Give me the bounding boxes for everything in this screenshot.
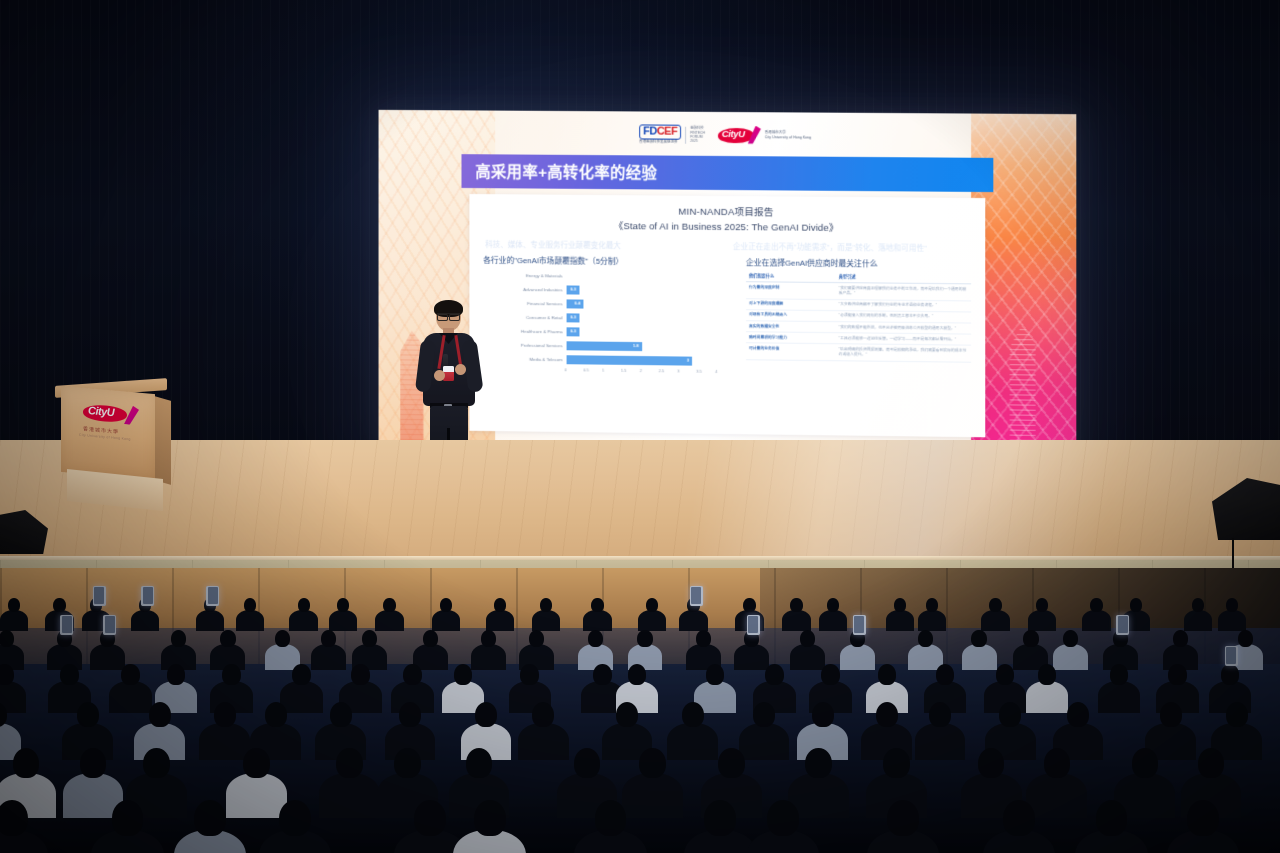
- audience-head: [337, 598, 349, 612]
- audience-head: [588, 630, 603, 647]
- audience-head: [639, 748, 665, 778]
- genai-disruption-bar-chart: Energy & MaterialsAdvanced Industries0.3…: [483, 269, 734, 383]
- audience-head: [1132, 748, 1158, 778]
- audience-head: [0, 800, 28, 836]
- slide-title: 高采用率+高转化率的经验: [475, 160, 657, 183]
- table-cell-key: 真实的数据安全性: [746, 321, 836, 333]
- ghost-heading-right: 企业正在走出不再"功能需求"，而是"转化、落地和可用性": [733, 242, 969, 253]
- chart-x-axis: 00.511.522.533.54: [567, 367, 734, 374]
- table-column: 企业在选择GenAI供应商时最关注什么 他们想要什么典型引述 行为量的深度定制"…: [746, 257, 971, 386]
- chart-bar-value: 1.8: [633, 343, 639, 348]
- audience-head: [1063, 630, 1078, 647]
- audience-head: [637, 630, 652, 647]
- audience-area: [0, 568, 1280, 853]
- chart-bar-track: 0.3: [567, 285, 734, 296]
- chart-bar-track: 0.4: [567, 299, 734, 310]
- audience-head: [1173, 630, 1188, 647]
- audience-head: [8, 598, 20, 612]
- chart-bar-track: 0.3: [567, 313, 734, 324]
- faded-headings-row: 科技、媒体、专业服务行业颠覆变化最大 企业正在走出不再"功能需求"，而是"转化、…: [485, 240, 969, 253]
- audience-head: [743, 598, 755, 612]
- chart-bar-row: Media & Telecom3: [483, 352, 734, 367]
- audience-head: [989, 598, 1001, 612]
- audience-head: [265, 702, 287, 727]
- chart-bar: 0.3: [567, 313, 580, 323]
- audience-head: [1226, 702, 1248, 727]
- audience-head: [466, 748, 492, 778]
- audience-shoulders: [375, 610, 404, 631]
- speaker-right-hand: [455, 364, 466, 375]
- audience-head: [403, 664, 421, 685]
- audience-head: [753, 702, 775, 727]
- chart-bar-track: 0.3: [567, 327, 734, 338]
- audience-shoulders: [1026, 773, 1087, 818]
- audience-shoulders: [329, 610, 358, 631]
- audience-shoulders: [486, 610, 515, 631]
- audience-head: [887, 800, 919, 836]
- audience-head: [0, 630, 14, 647]
- audience-head: [383, 598, 395, 612]
- report-line-2: 《State of AI in Business 2025: The GenAI…: [469, 217, 985, 235]
- audience-head: [704, 800, 736, 836]
- table-cell-key: 对现有工具的无缝嵌入: [746, 309, 836, 321]
- audience-head: [821, 664, 839, 685]
- audience-head: [1168, 664, 1186, 685]
- audience-head: [1130, 598, 1142, 612]
- audience-shoulders: [840, 644, 875, 670]
- audience-head: [53, 598, 65, 612]
- fdcef-caption: 香港金融科技发展促进会: [639, 140, 681, 145]
- chart-bar-value: 0.4: [574, 300, 580, 305]
- audience-shoulders: [679, 610, 708, 631]
- audience-head: [220, 630, 235, 647]
- audience-head: [1038, 664, 1056, 685]
- audience-head: [520, 664, 538, 685]
- audience-shoulders: [226, 773, 287, 818]
- audience-shoulders: [1082, 610, 1111, 631]
- audience-head: [475, 702, 497, 727]
- audience-head: [978, 748, 1004, 778]
- table-cell-quote: "给出明确的投资回报测算，而不是模糊的承诺，我们需要看到实际的成本节约或收入提升…: [836, 344, 971, 362]
- audience-head: [878, 664, 896, 685]
- audience-shoulders: [667, 723, 718, 760]
- audience-phone-screen: [690, 586, 703, 606]
- audience-shoulders: [1218, 610, 1247, 631]
- audience-head: [13, 748, 39, 778]
- chart-bar-track: [567, 271, 734, 282]
- audience-head: [616, 702, 638, 727]
- chart-category-label: Healthcare & Pharma: [483, 328, 566, 334]
- audience-head: [805, 748, 831, 778]
- stage-floor: [0, 440, 1280, 568]
- audience-shoulders: [918, 610, 947, 631]
- audience-shoulders: [196, 610, 225, 631]
- cityu-wordmark: CityU: [722, 129, 745, 140]
- chart-bar: 0.3: [567, 285, 580, 295]
- slide-logo-row: FDCEF 香港金融科技发展促进会 金融科技FINTECHFORUM2025 C…: [379, 118, 1077, 153]
- table-column-header: 他们想要什么: [746, 271, 836, 283]
- audience-head: [292, 664, 310, 685]
- audience-head: [696, 630, 711, 647]
- fdcef-mark-icon: FDCEF: [639, 125, 681, 140]
- audience-head: [646, 598, 658, 612]
- chart-column: 各行业的"GenAI市场颠覆指数"（5分制） Energy & Material…: [483, 255, 734, 383]
- chart-x-tick: 0.5: [583, 367, 602, 372]
- audience-head: [926, 598, 938, 612]
- cityu-logo: CityU 香港城市大學City University of Hong Kong: [718, 125, 811, 145]
- ghost-heading-left: 科技、媒体、专业服务行业颠覆变化最大: [485, 240, 719, 251]
- audience-shoulders: [790, 644, 825, 670]
- audience-head: [275, 630, 290, 647]
- audience-head: [330, 702, 352, 727]
- audience-head: [60, 664, 78, 685]
- audience-phone-screen: [853, 615, 866, 635]
- audience-head: [574, 748, 600, 778]
- audience-shoulders: [319, 773, 380, 818]
- audience-head: [827, 598, 839, 612]
- audience-shoulders: [131, 610, 160, 631]
- projection-screen: FDCEF 香港金融科技发展促进会 金融科技FINTECHFORUM2025 C…: [379, 110, 1077, 459]
- audience-head: [595, 800, 627, 836]
- audience-shoulders: [1184, 610, 1213, 631]
- chart-bar-row: Healthcare & Pharma0.3: [483, 324, 734, 339]
- audience-head: [77, 702, 99, 727]
- audience-head: [1238, 630, 1253, 647]
- audience-head: [121, 664, 139, 685]
- lectern-podium: CityU 香港城市大學 City University of Hong Kon…: [55, 382, 173, 510]
- audience-head: [351, 664, 369, 685]
- audience-shoulders: [432, 610, 461, 631]
- table-cell-quote: "我们需要供应商真正理解我们业务中的工作流，而不是给我们一个通用的模板产品。": [836, 283, 971, 301]
- chart-x-tick: 4: [715, 369, 734, 374]
- table-cell-key: 随时间累积的学习能力: [746, 332, 836, 344]
- audience-head: [149, 702, 171, 727]
- audience-shoulders: [819, 610, 848, 631]
- audience-phone-screen: [141, 586, 154, 606]
- auditorium-presentation-photo: FDCEF 香港金融科技发展促进会 金融科技FINTECHFORUM2025 C…: [0, 0, 1280, 853]
- table-heading: 企业在选择GenAI供应商时最关注什么: [746, 257, 971, 270]
- audience-shoulders: [915, 723, 966, 760]
- audience-head: [765, 664, 783, 685]
- audience-head: [112, 800, 144, 836]
- audience-shoulders: [962, 644, 997, 670]
- chart-category-label: Energy & Materials: [483, 272, 566, 278]
- chart-bar-track: 3: [567, 355, 734, 366]
- audience-shoulders: [1053, 644, 1088, 670]
- audience-head: [143, 748, 169, 778]
- audience-head: [628, 664, 646, 685]
- chart-heading: 各行业的"GenAI市场颠覆指数"（5分制）: [483, 255, 734, 268]
- logo-divider: [685, 126, 686, 143]
- audience-head: [0, 664, 14, 685]
- cityu-mark-icon: CityU: [718, 125, 761, 144]
- audience-shoulders: [739, 723, 790, 760]
- audience-head: [996, 664, 1014, 685]
- audience-head: [423, 630, 438, 647]
- audience-shoulders: [471, 644, 506, 670]
- audience-phone-screen: [206, 586, 219, 606]
- audience-head: [454, 664, 472, 685]
- slide-title-bar: 高采用率+高转化率的经验: [461, 154, 993, 192]
- audience-head: [1090, 598, 1102, 612]
- chart-bar-value: 0.3: [570, 286, 576, 291]
- audience-head: [394, 748, 420, 778]
- audience-head: [876, 702, 898, 727]
- audience-head: [214, 702, 236, 727]
- table-row: 可计量的业务价值"给出明确的投资回报测算，而不是模糊的承诺，我们需要看到实际的成…: [746, 343, 971, 362]
- audience-head: [918, 630, 933, 647]
- chart-x-tick: 2.5: [659, 368, 678, 373]
- audience-head: [593, 664, 611, 685]
- audience-head: [929, 702, 951, 727]
- audience-phone-screen: [1116, 615, 1129, 635]
- audience-head: [1160, 702, 1182, 727]
- audience-head: [800, 630, 815, 647]
- fdcef-logo: FDCEF 香港金融科技发展促进会 金融科技FINTECHFORUM2025: [639, 125, 705, 145]
- audience-shoulders: [0, 610, 28, 631]
- chart-bar-value: 0.3: [570, 314, 576, 319]
- chart-category-label: Financial Services: [483, 300, 566, 306]
- chart-bar-value: 0.3: [570, 328, 576, 333]
- audience-shoulders: [1026, 681, 1068, 712]
- audience-head: [414, 800, 446, 836]
- audience-head: [474, 800, 506, 836]
- audience-head: [167, 664, 185, 685]
- chart-bar-value: 3: [687, 357, 689, 362]
- audience-head: [936, 664, 954, 685]
- chart-x-tick: 0: [565, 367, 584, 372]
- chart-bar-row: Energy & Materials: [483, 269, 734, 284]
- glasses-icon: [437, 313, 460, 318]
- audience-shoulders: [1028, 610, 1057, 631]
- audience-head: [279, 800, 311, 836]
- audience-head: [494, 598, 506, 612]
- audience-shoulders: [622, 773, 683, 818]
- audience-head: [718, 748, 744, 778]
- audience-head: [1221, 664, 1239, 685]
- chart-bar-track: 1.8: [567, 341, 734, 352]
- audience-head: [1187, 800, 1219, 836]
- audience-head: [971, 630, 986, 647]
- chart-category-label: Professional Services: [483, 342, 566, 348]
- audience-shoulders: [236, 610, 265, 631]
- audience-phone-screen: [60, 615, 73, 635]
- audience-head: [171, 630, 186, 647]
- table-cell-key: 对上下游的深度理解: [746, 298, 836, 310]
- audience-head: [243, 748, 269, 778]
- audience-phone-screen: [93, 586, 106, 606]
- audience-shoulders: [311, 644, 346, 670]
- vendor-criteria-table: 他们想要什么典型引述 行为量的深度定制"我们需要供应商真正理解我们业务中的工作流…: [746, 271, 971, 362]
- audience-head: [1044, 748, 1070, 778]
- audience-shoulders: [532, 610, 561, 631]
- audience-shoulders: [981, 610, 1010, 631]
- audience-shoulders: [1098, 681, 1140, 712]
- cityu-caption: 香港城市大學City University of Hong Kong: [765, 131, 811, 141]
- table-body: 行为量的深度定制"我们需要供应商真正理解我们业务中的工作流，而不是给我们一个通用…: [746, 282, 971, 362]
- audience-head: [767, 800, 799, 836]
- audience-head: [682, 702, 704, 727]
- chart-x-tick: 3.5: [696, 369, 715, 374]
- audience-head: [244, 598, 256, 612]
- chart-x-tick: 1.5: [621, 368, 640, 373]
- audience-head: [1198, 748, 1224, 778]
- audience-shoulders: [518, 723, 569, 760]
- chart-bar: 0.4: [567, 299, 584, 309]
- audience-shoulders: [638, 610, 667, 631]
- chart-category-label: Media & Telecom: [483, 356, 566, 362]
- audience-head: [1067, 702, 1089, 727]
- audience-head: [1110, 664, 1128, 685]
- audience-head: [336, 748, 362, 778]
- audience-head: [790, 598, 802, 612]
- audience-head: [532, 702, 554, 727]
- report-title-block: MIN-NANDA项目报告 《State of AI in Business 2…: [469, 202, 985, 235]
- audience-shoulders: [886, 610, 915, 631]
- chart-bar-row: Professional Services1.8: [483, 338, 734, 353]
- chart-bar-row: Consumer & Retail0.3: [483, 311, 734, 326]
- table-cell-key: 可计量的业务价值: [746, 343, 836, 360]
- audience-phone-screen: [103, 615, 116, 635]
- fdcef-forum-caption: 金融科技FINTECHFORUM2025: [690, 126, 705, 144]
- audience-head: [1003, 800, 1035, 836]
- chart-x-tick: 1: [602, 368, 621, 373]
- audience-head: [1226, 598, 1238, 612]
- audience-head: [1096, 800, 1128, 836]
- audience-head: [812, 702, 834, 727]
- audience-phone-screen: [747, 615, 760, 635]
- podium-cityu-wordmark: CityU: [88, 405, 114, 419]
- audience-phone-screen: [1225, 646, 1238, 666]
- audience-head: [540, 598, 552, 612]
- audience-head: [1036, 598, 1048, 612]
- slide-content-card: MIN-NANDA项目报告 《State of AI in Business 2…: [469, 194, 985, 437]
- audience-head: [80, 748, 106, 778]
- audience-shoulders: [289, 610, 318, 631]
- audience-head: [222, 664, 240, 685]
- chart-x-tick: 2: [640, 368, 659, 373]
- chart-bar-row: Financial Services0.4: [483, 297, 734, 312]
- audience-shoulders: [90, 644, 125, 670]
- audience-head: [399, 702, 421, 727]
- chart-category-label: Consumer & Retail: [483, 314, 566, 320]
- chart-bar-row: Advanced Industries0.3: [483, 283, 734, 298]
- audience-head: [1192, 598, 1204, 612]
- audience-head: [591, 598, 603, 612]
- audience-head: [999, 702, 1021, 727]
- speaker-left-hand: [434, 370, 445, 381]
- audience-head: [529, 630, 544, 647]
- chart-x-tick: 3: [677, 368, 696, 373]
- audience-shoulders: [280, 681, 322, 712]
- audience-head: [362, 630, 377, 647]
- audience-head: [440, 598, 452, 612]
- chart-category-label: Advanced Industries: [483, 286, 566, 292]
- audience-shoulders: [199, 723, 250, 760]
- audience-shoulders: [782, 610, 811, 631]
- audience-shoulders: [109, 681, 151, 712]
- audience-head: [1023, 630, 1038, 647]
- chart-bar: 0.3: [567, 327, 580, 337]
- slide-two-columns: 各行业的"GenAI市场颠覆指数"（5分制） Energy & Material…: [483, 255, 971, 386]
- chart-bar: 1.8: [567, 341, 642, 351]
- audience-head: [706, 664, 724, 685]
- chart-bar: 3: [567, 355, 692, 366]
- audience-head: [194, 800, 226, 836]
- audience-head: [883, 748, 909, 778]
- audience-head: [894, 598, 906, 612]
- audience-shoulders: [583, 610, 612, 631]
- chart-bar-rows: Energy & MaterialsAdvanced Industries0.3…: [483, 269, 734, 368]
- table-cell-key: 行为量的深度定制: [746, 282, 836, 299]
- audience-shoulders: [734, 644, 769, 670]
- audience-head: [298, 598, 310, 612]
